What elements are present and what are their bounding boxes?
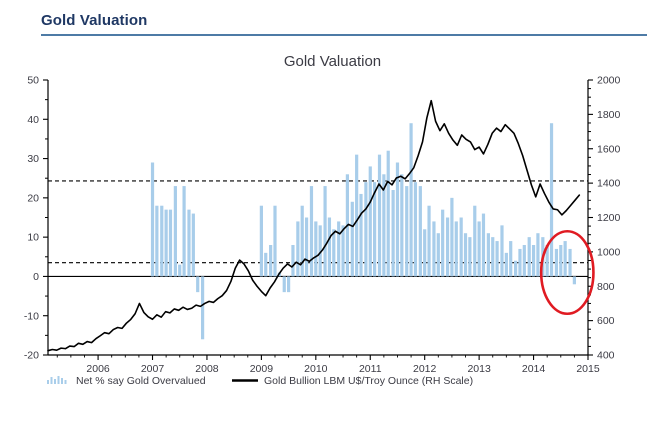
bar — [165, 210, 168, 277]
bar — [500, 225, 503, 276]
bar — [273, 206, 276, 277]
bar — [301, 206, 304, 277]
legend-bars-marker-icon — [61, 378, 63, 384]
chart-container: Gold Valuation -20-100102030405040060080… — [0, 40, 665, 428]
bar — [169, 210, 172, 277]
gold-valuation-chart: -20-100102030405040060080010001200140016… — [0, 40, 665, 428]
bar — [532, 245, 535, 276]
bar — [536, 233, 539, 276]
page-title: Gold Valuation — [41, 12, 147, 29]
bar — [392, 190, 395, 276]
bar — [473, 206, 476, 277]
bar — [182, 186, 185, 276]
bar — [550, 123, 553, 276]
x-axis-tick-label: 2015 — [576, 363, 600, 375]
bar — [283, 276, 286, 292]
x-axis-tick-label: 2010 — [304, 363, 328, 375]
bar — [491, 237, 494, 276]
bar — [387, 151, 390, 277]
x-axis-tick-label: 2014 — [522, 363, 546, 375]
bar — [332, 229, 335, 276]
bar — [341, 225, 344, 276]
bar — [396, 163, 399, 277]
bar — [432, 221, 435, 276]
left-axis-tick-label: 50 — [27, 75, 39, 87]
bar — [400, 174, 403, 276]
bar — [328, 218, 331, 277]
bar — [464, 233, 467, 276]
bar — [296, 221, 299, 276]
bar — [378, 155, 381, 277]
bar — [355, 155, 358, 277]
right-axis-tick-label: 1000 — [597, 246, 621, 258]
chart-legend: Net % say Gold OvervaluedGold Bullion LB… — [47, 375, 473, 387]
bar — [505, 253, 508, 277]
bar — [509, 241, 512, 276]
right-axis-tick-label: 1800 — [597, 109, 621, 121]
bar — [155, 206, 158, 277]
x-axis-tick-label: 2013 — [467, 363, 491, 375]
bar — [559, 245, 562, 276]
bar — [564, 241, 567, 276]
left-axis-tick-label: 20 — [27, 192, 39, 204]
bar — [351, 202, 354, 277]
bar — [427, 206, 430, 277]
bar — [264, 253, 267, 277]
line-series-layer — [48, 101, 579, 351]
bar — [460, 218, 463, 277]
bar — [359, 194, 362, 277]
right-axis-tick-label: 2000 — [597, 75, 621, 87]
right-axis-tick-label: 400 — [597, 350, 615, 362]
bar — [468, 237, 471, 276]
bar — [423, 229, 426, 276]
bar — [568, 249, 571, 277]
gold-price-line — [48, 101, 579, 351]
left-axis-tick-label: -20 — [24, 350, 39, 362]
bar — [291, 245, 294, 276]
legend-label-net-pct: Net % say Gold Overvalued — [76, 375, 206, 387]
bar — [405, 186, 408, 276]
bar — [178, 265, 181, 277]
bar — [323, 186, 326, 276]
bar — [260, 206, 263, 277]
bar — [196, 276, 199, 292]
bar — [414, 182, 417, 276]
bar — [174, 186, 177, 276]
bar — [192, 214, 195, 277]
legend-label-gold-bullion: Gold Bullion LBM U$/Troy Ounce (RH Scale… — [264, 375, 473, 387]
bar — [487, 233, 490, 276]
x-axis-tick-label: 2007 — [141, 363, 165, 375]
bar — [555, 249, 558, 277]
bar — [419, 186, 422, 276]
bar — [305, 218, 308, 277]
bar — [364, 182, 367, 276]
bar — [518, 249, 521, 277]
bar — [523, 245, 526, 276]
legend-bars-marker-icon — [54, 379, 56, 384]
bar — [437, 233, 440, 276]
annotation-red-circle — [541, 231, 593, 314]
bar — [409, 123, 412, 276]
bar — [287, 276, 290, 292]
bar — [269, 245, 272, 276]
x-axis-tick-label: 2006 — [86, 363, 110, 375]
legend-bars-marker-icon — [58, 376, 60, 384]
x-axis-tick-label: 2009 — [250, 363, 274, 375]
bar — [151, 163, 154, 277]
page-header: Gold Valuation — [0, 0, 665, 40]
x-axis-tick-label: 2011 — [359, 363, 382, 375]
bar — [441, 210, 444, 277]
bar — [337, 221, 340, 276]
legend-bars-marker-icon — [65, 380, 67, 384]
bar — [482, 214, 485, 277]
bar — [160, 206, 163, 277]
bar — [455, 221, 458, 276]
legend-bars-marker-icon — [51, 377, 53, 384]
header-divider — [41, 34, 647, 36]
left-axis-tick-label: 10 — [27, 232, 39, 244]
annotations-layer — [541, 231, 593, 314]
left-axis-tick-label: -10 — [24, 310, 39, 322]
left-axis-tick-label: 40 — [27, 114, 39, 126]
legend-bars-marker-icon — [47, 380, 49, 384]
x-axis-tick-label: 2008 — [195, 363, 219, 375]
bar — [446, 218, 449, 277]
bar — [201, 276, 204, 339]
left-axis-tick-label: 0 — [33, 271, 39, 283]
x-axis-tick-label: 2012 — [413, 363, 437, 375]
bar — [314, 221, 317, 276]
right-axis-tick-label: 1200 — [597, 212, 621, 224]
bar — [528, 237, 531, 276]
bar-series-layer — [151, 123, 576, 339]
right-axis-tick-label: 800 — [597, 281, 615, 293]
right-axis-tick-label: 1400 — [597, 178, 621, 190]
bar — [450, 198, 453, 277]
bar — [478, 221, 481, 276]
right-axis-tick-label: 1600 — [597, 143, 621, 155]
left-axis-tick-label: 30 — [27, 153, 39, 165]
bar — [187, 210, 190, 277]
bar — [573, 276, 576, 284]
right-axis-tick-label: 600 — [597, 315, 615, 327]
bar — [495, 241, 498, 276]
bar — [514, 261, 517, 277]
bar — [310, 186, 313, 276]
bar — [369, 166, 372, 276]
